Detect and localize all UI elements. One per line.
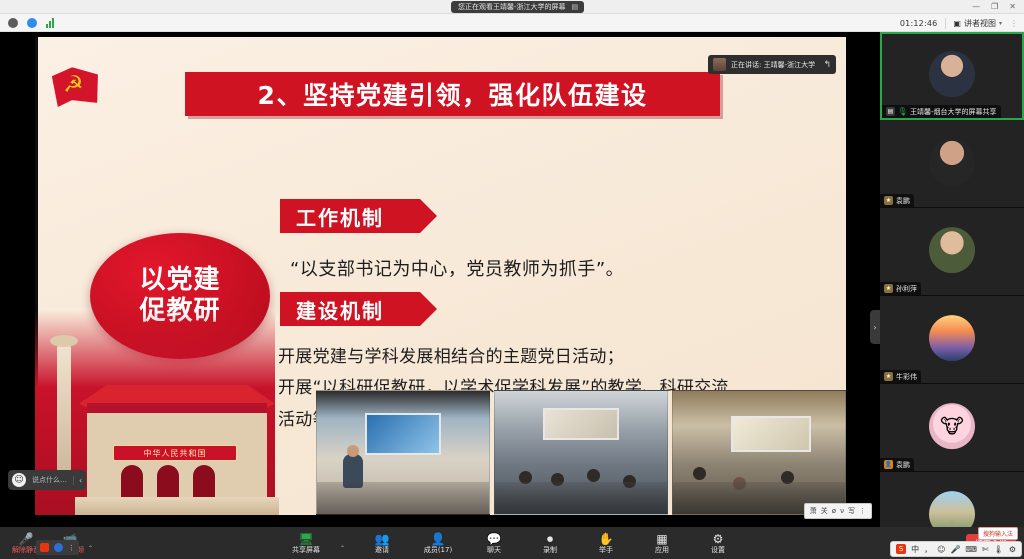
toolbar-center-group: 🖥 共享屏幕 ⌃ 👥 邀请 👤 成员(17) 💬 聊天 ⏺ 录制 ✋ bbox=[286, 527, 738, 559]
avatar bbox=[929, 315, 975, 361]
chevron-right-icon: › bbox=[873, 323, 876, 332]
apps-label: 应用 bbox=[655, 546, 669, 554]
participant-name: 袁鹏 bbox=[896, 196, 910, 206]
apps-icon: ▦ bbox=[656, 533, 667, 545]
members-label: 成员(17) bbox=[424, 546, 452, 554]
ime-punct-icon[interactable]: ， bbox=[924, 544, 932, 555]
avatar: 🐮 bbox=[929, 403, 975, 449]
badge-line-1: 以党建 bbox=[139, 265, 220, 296]
screen-sharing-notice: 您正在观看王靖馨-浙江大学的屏幕 ▤ bbox=[451, 1, 584, 13]
user-avatar-icon: ☺ bbox=[12, 473, 26, 487]
floating-chat-input[interactable]: ☺ 说点什么… ‹ bbox=[8, 470, 86, 490]
speaker-thumbnail bbox=[713, 58, 726, 71]
slide-tag-work-mechanism: 工作机制 bbox=[280, 199, 420, 233]
screen-share-icon[interactable]: ▤ bbox=[572, 1, 579, 13]
avatar bbox=[929, 227, 975, 273]
ime-voice-icon[interactable]: 🎤 bbox=[950, 545, 960, 554]
participant-tile-0[interactable]: ▤ 🎙 王靖馨-烟台大学的屏幕共享 bbox=[880, 32, 1024, 120]
sogou-ime-toolbar[interactable]: S 中 ， ☺ 🎤 ⌨ ✄ 🌡 ⚙ bbox=[890, 541, 1022, 557]
ime-tooltip: 搜狗输入法 bbox=[978, 527, 1018, 540]
zoom-meeting-window: 您正在观看王靖馨-浙江大学的屏幕 ▤ — ❐ ✕ 01:12:46 ▣ 讲者视图… bbox=[0, 0, 1024, 559]
meeting-status-icons bbox=[8, 18, 54, 28]
body-line-1: 开展党建与学科发展相结合的主题党日活动； bbox=[278, 342, 846, 373]
slide-tag-build-mechanism: 建设机制 bbox=[280, 292, 420, 326]
ime-item: ν bbox=[840, 507, 844, 515]
share-screen-button[interactable]: 🖥 共享屏幕 bbox=[286, 527, 326, 559]
participant-tile-2[interactable]: ★ 孙利萍 bbox=[880, 208, 1024, 296]
raise-hand-button[interactable]: ✋ 举手 bbox=[586, 527, 626, 559]
meeting-right-controls: 01:12:46 ▣ 讲者视图 ▾ ⋮ bbox=[900, 14, 1018, 32]
ime-item: 萧 bbox=[810, 506, 817, 516]
sogou-icon[interactable] bbox=[40, 543, 49, 552]
ime-tools-icon[interactable]: ✄ bbox=[982, 545, 989, 554]
participant-namebar: 👤 袁鹏 bbox=[880, 458, 914, 471]
slide-quote: “以支部书记为中心，党员教师为抓手”。 bbox=[290, 255, 846, 281]
participant-tile-3[interactable]: ★ 牛彩伟 bbox=[880, 296, 1024, 384]
speaker-view-icon: ▣ bbox=[953, 19, 961, 28]
shield-icon[interactable] bbox=[27, 18, 37, 28]
raise-hand-label: 举手 bbox=[599, 546, 613, 554]
participant-name: 孙利萍 bbox=[896, 284, 917, 294]
slide-title: 2、坚持党建引领，强化队伍建设 bbox=[258, 76, 648, 112]
meeting-info-bar: 01:12:46 ▣ 讲者视图 ▾ ⋮ bbox=[0, 14, 1024, 32]
ime-emoji-icon[interactable]: ☺ bbox=[937, 545, 945, 554]
invite-button[interactable]: 👥 邀请 bbox=[362, 527, 402, 559]
gate-arch bbox=[157, 465, 179, 499]
tag1-label: 工作机制 bbox=[296, 202, 384, 231]
ime-mode-label[interactable]: 中 bbox=[911, 544, 919, 555]
avatar bbox=[929, 51, 975, 97]
participant-namebar: ★ 袁鹏 bbox=[880, 194, 914, 207]
participant-tile-4[interactable]: 🐮 👤 袁鹏 bbox=[880, 384, 1024, 472]
apps-button[interactable]: ▦ 应用 bbox=[642, 527, 682, 559]
huabiao-pillar bbox=[57, 345, 71, 475]
ime-item: ⋮ bbox=[859, 507, 866, 515]
record-icon: ⏺ bbox=[547, 533, 553, 545]
sogou-logo-icon[interactable]: S bbox=[896, 544, 906, 554]
slide-title-banner: 2、坚持党建引领，强化队伍建设 bbox=[185, 72, 720, 116]
sharing-notice-label: 您正在观看王靖馨-浙江大学的屏幕 bbox=[458, 1, 566, 13]
hammer-sickle-icon: ☭ bbox=[63, 73, 89, 97]
settings-button[interactable]: ⚙ 设置 bbox=[698, 527, 738, 559]
record-label: 录制 bbox=[543, 546, 557, 554]
active-speaker-label: 正在讲话: 王靖馨-浙江大学 bbox=[731, 60, 815, 70]
meeting-timer: 01:12:46 bbox=[900, 19, 938, 28]
view-mode-label: 讲者视图 bbox=[964, 18, 996, 29]
participant-tile-1[interactable]: ★ 袁鹏 bbox=[880, 120, 1024, 208]
chat-icon: 💬 bbox=[487, 533, 502, 545]
slide-ime-strip[interactable]: 萧 关 ø ν 写 ⋮ bbox=[804, 503, 872, 519]
members-button[interactable]: 👤 成员(17) bbox=[418, 527, 458, 559]
gate-plaque: 中华人民共和国 bbox=[113, 445, 237, 461]
gate-arch bbox=[193, 465, 215, 499]
user-icon: 👤 bbox=[884, 460, 893, 469]
ime-keyboard-icon[interactable]: ⌨ bbox=[965, 545, 977, 554]
gate-steps bbox=[75, 497, 279, 515]
party-flag-emblem: ☭ bbox=[49, 61, 105, 111]
minimize-button[interactable]: — bbox=[972, 3, 980, 11]
return-arrow-icon[interactable]: ↰ bbox=[823, 60, 831, 70]
ime-item: 写 bbox=[848, 506, 855, 516]
participant-name: 牛彩伟 bbox=[896, 372, 917, 382]
more-options-button[interactable]: ⋮ bbox=[1010, 19, 1018, 28]
info-icon[interactable] bbox=[8, 18, 18, 28]
participant-namebar: ★ 孙利萍 bbox=[880, 282, 921, 295]
window-title-bar: 您正在观看王靖馨-浙江大学的屏幕 ▤ — ❐ ✕ bbox=[0, 0, 1024, 14]
settings-gear-icon: ⚙ bbox=[713, 533, 724, 545]
host-icon: ★ bbox=[884, 196, 893, 205]
participant-name: 袁鹏 bbox=[896, 460, 910, 470]
view-mode-selector[interactable]: ▣ 讲者视图 ▾ bbox=[945, 18, 1002, 29]
settings-label: 设置 bbox=[711, 546, 725, 554]
photo-foreground-desk bbox=[317, 482, 489, 514]
mic-icon: 🎙 bbox=[898, 107, 907, 116]
photo-classroom-audience bbox=[494, 390, 668, 515]
chevron-down-icon: ▾ bbox=[999, 20, 1002, 27]
record-button[interactable]: ⏺ 录制 bbox=[530, 527, 570, 559]
share-icon: ▤ bbox=[886, 107, 895, 116]
invite-icon: 👥 bbox=[375, 533, 390, 545]
mic-muted-icon: 🎤 bbox=[19, 533, 34, 545]
window-controls: — ❐ ✕ bbox=[972, 0, 1020, 14]
browser-icon[interactable] bbox=[54, 543, 63, 552]
photo-person bbox=[587, 469, 600, 482]
rail-collapse-handle[interactable]: › bbox=[870, 310, 880, 344]
active-speaker-pill[interactable]: 正在讲话: 王靖馨-浙江大学 ↰ bbox=[708, 55, 836, 74]
photo-foreground-desk bbox=[495, 482, 667, 514]
slide-photo-row bbox=[316, 390, 846, 515]
ime-skin-icon[interactable]: 🌡 bbox=[994, 545, 1004, 554]
share-screen-label: 共享屏幕 bbox=[292, 546, 320, 554]
photo-projector-screen bbox=[543, 408, 619, 440]
invite-label: 邀请 bbox=[375, 546, 389, 554]
chat-button[interactable]: 💬 聊天 bbox=[474, 527, 514, 559]
network-signal-icon[interactable] bbox=[46, 18, 54, 28]
host-icon: ★ bbox=[884, 372, 893, 381]
participant-namebar: ▤ 🎙 王靖馨-烟台大学的屏幕共享 bbox=[882, 105, 1001, 118]
chevron-down-icon[interactable]: ⌄ bbox=[949, 516, 956, 525]
screen-share-icon: 🖥 bbox=[298, 533, 313, 545]
chat-label: 聊天 bbox=[487, 546, 501, 554]
photo-person bbox=[693, 467, 706, 480]
maximize-button[interactable]: ❐ bbox=[991, 3, 998, 11]
ime-settings-icon[interactable]: ⚙ bbox=[1009, 545, 1016, 554]
avatar bbox=[929, 139, 975, 185]
taskbar-tray-left[interactable]: ⋮ bbox=[36, 540, 79, 555]
host-icon: ★ bbox=[884, 284, 893, 293]
ime-item: 关 bbox=[821, 506, 828, 516]
members-icon: 👤 bbox=[431, 533, 446, 545]
participant-video-rail[interactable]: ⌃ ▤ 🎙 王靖馨-烟台大学的屏幕共享 ★ 袁鹏 ★ 孙利萍 bbox=[880, 32, 1024, 527]
tag2-label: 建设机制 bbox=[296, 295, 384, 324]
share-options-caret[interactable]: ⌃ bbox=[340, 545, 345, 552]
photo-projector-screen bbox=[365, 413, 441, 455]
chat-input-placeholder[interactable]: 说点什么… bbox=[32, 475, 67, 485]
presentation-slide: ☭ 2、坚持党建引领，强化队伍建设 以党建 促教研 工作机制 “以支部书记为中心… bbox=[35, 37, 846, 515]
meeting-toolbar: 🎤 解除静音 ⌃ 📹 开启视频 ⌃ 🖥 共享屏幕 ⌃ 👥 邀请 👤 成员(1 bbox=[0, 527, 1024, 559]
photo-lecture-hall bbox=[316, 390, 490, 515]
ime-item: ø bbox=[832, 507, 836, 515]
tray-overflow-icon[interactable]: ⋮ bbox=[68, 544, 75, 552]
chevron-left-icon[interactable]: ‹ bbox=[73, 476, 82, 485]
close-button[interactable]: ✕ bbox=[1009, 3, 1016, 11]
shared-screen-stage[interactable]: ☭ 2、坚持党建引领，强化队伍建设 以党建 促教研 工作机制 “以支部书记为中心… bbox=[0, 32, 880, 527]
gate-arch bbox=[121, 465, 143, 499]
participant-namebar: ★ 牛彩伟 bbox=[880, 370, 921, 383]
video-options-caret[interactable]: ⌃ bbox=[88, 545, 93, 552]
raise-hand-icon: ✋ bbox=[599, 533, 614, 545]
photo-seminar-room bbox=[672, 390, 846, 515]
photo-projector-screen bbox=[731, 416, 810, 453]
participant-name: 王靖馨-烟台大学的屏幕共享 bbox=[910, 107, 997, 117]
